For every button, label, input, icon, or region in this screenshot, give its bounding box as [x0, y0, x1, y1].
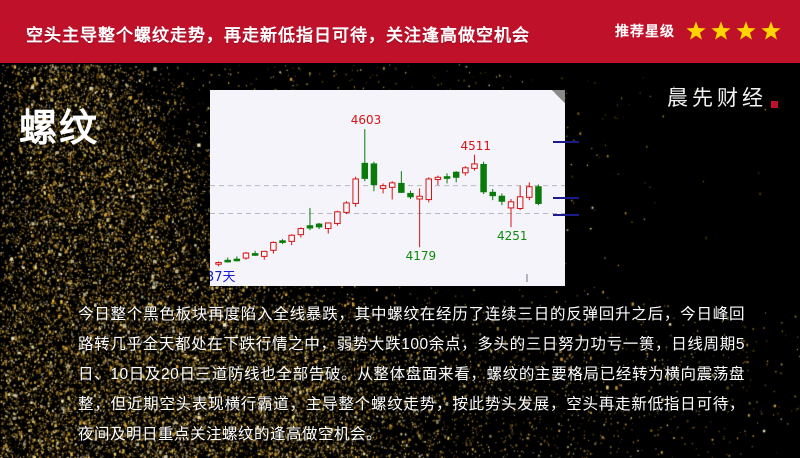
candle [527, 182, 532, 200]
candle [307, 208, 312, 230]
candle [335, 211, 340, 226]
candle [262, 251, 267, 260]
star-icon [760, 20, 782, 42]
candle [353, 177, 358, 207]
candle [325, 222, 330, 233]
star-icon [685, 20, 707, 42]
panel-corner-fold-icon [552, 90, 565, 103]
candle [453, 171, 458, 182]
candle [472, 155, 477, 171]
candle [408, 191, 413, 199]
header-bar: 空头主导整个螺纹走势，再走新低指日可待，关注逢高做空机会 推荐星级 [0, 0, 800, 63]
candle [344, 201, 349, 214]
candlestick-chart-panel[interactable]: 460345114179425137天 [210, 90, 565, 286]
page-title: 螺纹 [19, 97, 99, 152]
candle [271, 241, 276, 253]
star-icon [735, 20, 757, 42]
candle [243, 252, 248, 260]
candle [463, 166, 468, 175]
candle [481, 162, 486, 194]
price-marker [553, 197, 579, 199]
candle [362, 129, 367, 181]
commentary-text: 今日整个黑色板块再度陷入全线暴跌，其中螺纹在经历了连续三日的反弹回升之后，今日峰… [78, 300, 745, 450]
brand-name: 晨先财经 [667, 82, 767, 112]
candle [234, 256, 239, 261]
candle [499, 193, 504, 205]
candle [536, 185, 541, 206]
rating-label: 推荐星级 [615, 21, 675, 41]
candle [380, 183, 385, 193]
candle [426, 177, 431, 202]
price-marker [553, 141, 579, 143]
commentary-block: 今日整个黑色板块再度陷入全线暴跌，其中螺纹在经历了连续三日的反弹回升之后，今日峰… [0, 300, 800, 450]
candle [517, 186, 522, 211]
low-label: 4179 [406, 249, 437, 263]
candle [371, 162, 376, 192]
candle [280, 239, 285, 244]
header-headline: 空头主导整个螺纹走势，再走新低指日可待，关注逢高做空机会 [26, 21, 530, 46]
high-label: 4511 [460, 139, 491, 153]
candle [289, 234, 294, 245]
candle [316, 223, 321, 229]
candle [225, 258, 230, 263]
candle [399, 171, 404, 193]
candlestick-chart [210, 90, 565, 286]
high-label: 4603 [351, 113, 382, 127]
candle [298, 227, 303, 237]
candle [435, 176, 440, 185]
brand-dot-icon [771, 101, 778, 108]
rating-block: 推荐星级 [615, 20, 782, 42]
brand: 晨先财经 [667, 82, 778, 112]
candle [389, 181, 394, 199]
price-marker [553, 214, 579, 216]
low-label: 4251 [497, 229, 528, 243]
candle [417, 188, 422, 247]
candle [490, 189, 495, 200]
star-rating [685, 20, 782, 42]
candle [444, 173, 449, 183]
poster-root: 空头主导整个螺纹走势，再走新低指日可待，关注逢高做空机会 推荐星级 晨先财经 螺… [0, 0, 800, 458]
star-icon [710, 20, 732, 42]
candle [252, 251, 257, 256]
chart-period-label: 37天 [210, 266, 236, 285]
